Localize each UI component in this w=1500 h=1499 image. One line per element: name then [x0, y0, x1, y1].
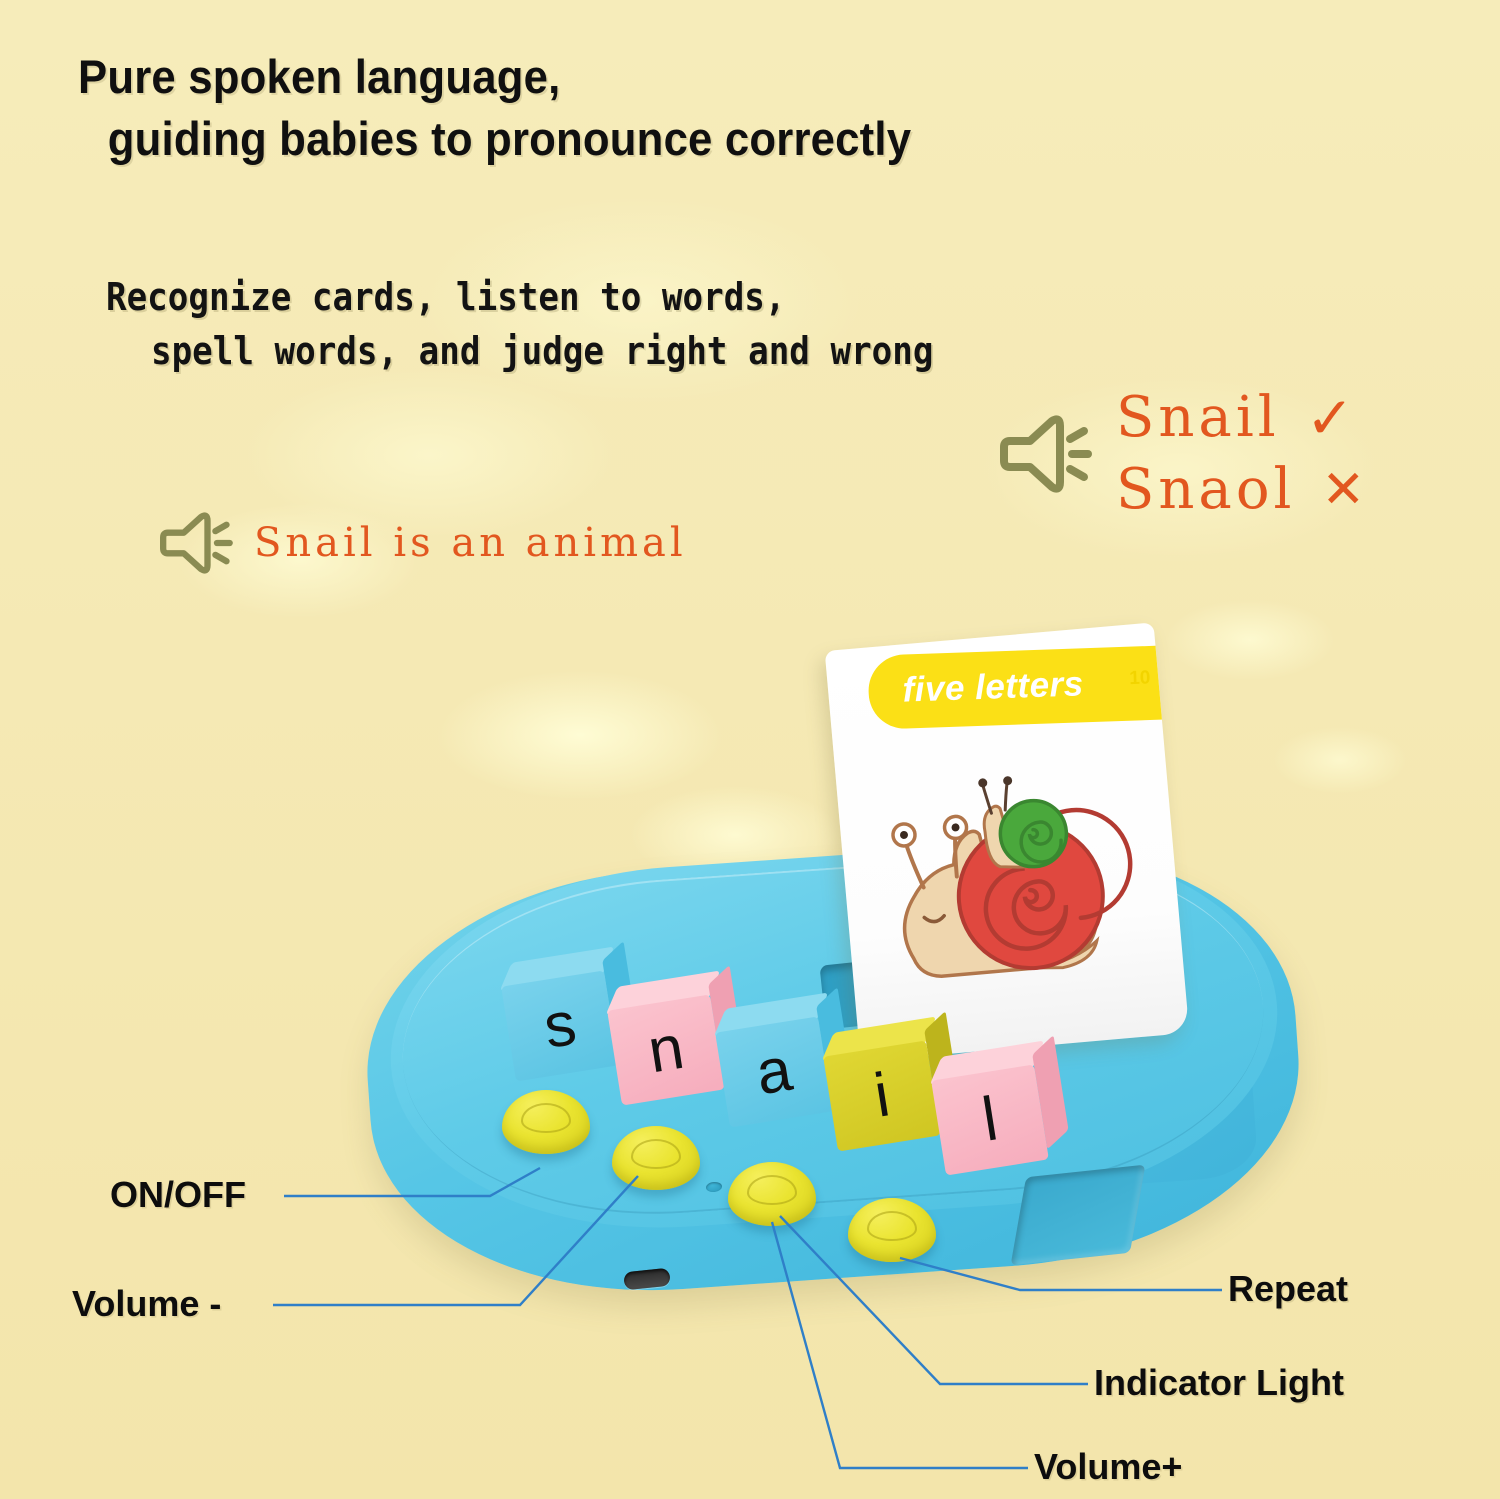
power-glyph-icon [521, 1103, 571, 1133]
cross-mark-icon: ✕ [1321, 454, 1365, 526]
speaker-icon [1000, 411, 1096, 497]
snail-illustration [870, 756, 1158, 999]
label-repeat: Repeat [1228, 1268, 1348, 1310]
callout-spelling-feedback: Snail ✓ Snaol ✕ [1000, 382, 1365, 526]
label-on-off: ON/OFF [110, 1174, 246, 1216]
spoken-sentence: Snail is an animal [254, 520, 687, 566]
infographic-canvas: Pure spoken language, guiding babies to … [0, 0, 1500, 1499]
feedback-row-correct: Snail ✓ [1116, 382, 1365, 454]
headline-line-1: Pure spoken language, [78, 50, 560, 103]
letter-tile-label: l [931, 1064, 1049, 1175]
headline-line-2: guiding babies to pronounce correctly [78, 108, 1287, 170]
check-mark-icon: ✓ [1306, 382, 1355, 454]
repeat-glyph-icon [867, 1211, 917, 1241]
page-subtitle: Recognize cards, listen to words, spell … [106, 270, 1114, 378]
letter-tile-l[interactable]: l [931, 1064, 1049, 1175]
label-volume-up: Volume+ [1034, 1446, 1182, 1488]
callout-sentence-audio: Snail is an animal [160, 508, 687, 578]
spoken-word-correct: Snail [1116, 382, 1280, 454]
volume-up-glyph-icon [747, 1175, 797, 1205]
card-number: 10 [1129, 667, 1151, 690]
speaker-icon [160, 508, 236, 578]
letter-tile-label: n [607, 994, 725, 1105]
card-banner: five letters [867, 646, 1163, 730]
letter-tile-label: i [823, 1040, 941, 1151]
card-banner-label: five letters [902, 664, 1084, 710]
volume-down-glyph-icon [631, 1139, 681, 1169]
letter-tile-s[interactable]: s [501, 970, 619, 1081]
letter-tile-label: s [501, 970, 619, 1081]
feedback-row-wrong: Snaol ✕ [1116, 454, 1365, 526]
learning-toy-device: five letters 10 [350, 620, 1360, 1360]
letter-tile-label: a [715, 1016, 833, 1127]
subtitle-line-2: spell words, and judge right and wrong [106, 324, 1114, 378]
letter-tile-a[interactable]: a [715, 1016, 833, 1127]
flash-card[interactable]: five letters 10 [825, 622, 1190, 1061]
page-headline: Pure spoken language, guiding babies to … [78, 46, 1287, 170]
letter-tile-n[interactable]: n [607, 994, 725, 1105]
spoken-word-wrong: Snaol [1116, 454, 1295, 526]
label-volume-down: Volume - [72, 1283, 221, 1325]
label-indicator-light: Indicator Light [1094, 1362, 1344, 1404]
subtitle-line-1: Recognize cards, listen to words, [106, 275, 785, 319]
letter-tile-i[interactable]: i [823, 1040, 941, 1151]
card-recess-slot [1011, 1165, 1146, 1266]
